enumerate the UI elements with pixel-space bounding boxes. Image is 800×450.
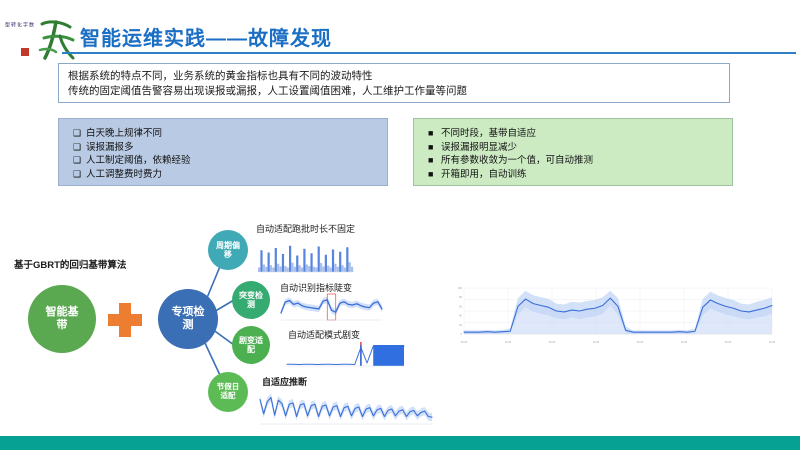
intro-line-2: 传统的固定阈值告警容易出现误报或漏报，人工设置阈值困难，人工维护工作量等问题 [68,84,720,99]
list-item: 人工调整费时费力 [73,168,377,182]
logo-brush-icon [36,18,76,62]
node-label: 专项检测 [171,306,205,331]
hollow-square-bullet-icon [73,127,86,141]
intro-textbox: 根据系统的特点不同，业务系统的黄金指标也具有不同的波动特性 传统的固定阈值告警容… [58,63,730,103]
svg-text:12:00: 12:00 [769,340,776,344]
node-intelligent-baseline[interactable]: 智能基带 [28,285,96,353]
list-item: 白天晚上规律不同 [73,127,377,141]
hollow-square-bullet-icon [73,154,86,168]
slide-root: 数 字 化 转 型 智能运维实践——故障发现 根据系统的特点不同，业务系统的黄金… [0,0,800,450]
node-spike-detection[interactable]: 突变检测 [232,281,270,319]
list-item: 误报漏报明显减少 [428,141,722,155]
list-item: 所有参数收敛为一个值，可自动推测 [428,154,722,168]
svg-text:12:00: 12:00 [593,340,600,344]
intro-line-1: 根据系统的特点不同，业务系统的黄金指标也具有不同的波动特性 [68,69,720,84]
benefit-item-1: 误报漏报明显减少 [441,141,517,155]
filled-square-bullet-icon [428,141,441,155]
caption-cycle-shift: 自动适配跑批时长不固定 [256,222,355,235]
benefit-list: 不同时段，基带自适应 误报漏报明显减少 所有参数收敛为一个值，可自动推测 开箱即… [428,127,722,181]
title-divider [62,52,796,54]
svg-text:00:00: 00:00 [725,340,732,344]
logo-seal-icon [21,48,29,56]
problem-list: 白天晚上规律不同 误报漏报多 人工制定阈值，依赖经验 人工调整费时费力 [73,127,377,181]
chart-holiday-adapt [252,388,434,430]
page-title: 智能运维实践——故障发现 [80,22,332,51]
benefit-box: 不同时段，基带自适应 误报漏报明显减少 所有参数收敛为一个值，可自动推测 开箱即… [413,118,733,186]
problem-item-0: 白天晚上规律不同 [86,127,162,141]
svg-text:00:00: 00:00 [637,340,644,344]
svg-text:20: 20 [459,323,462,327]
hollow-square-bullet-icon [73,168,86,182]
filled-square-bullet-icon [428,154,441,168]
svg-text:80: 80 [459,295,462,299]
problem-item-2: 人工制定阈值，依赖经验 [86,154,191,168]
svg-text:60: 60 [459,304,462,308]
chart-spike-detect [278,292,384,324]
svg-text:00:00: 00:00 [549,340,556,344]
node-label: 剧变适配 [239,336,263,354]
list-item: 误报漏报多 [73,141,377,155]
node-label: 智能基带 [42,306,82,331]
hollow-square-bullet-icon [73,141,86,155]
list-item: 开箱即用，自动训练 [428,168,722,182]
node-label: 突变检测 [239,291,263,309]
filled-square-bullet-icon [428,127,441,141]
svg-text:12:00: 12:00 [505,340,512,344]
problem-item-1: 误报漏报多 [86,141,134,155]
node-special-detection[interactable]: 专项检测 [158,289,218,349]
brand-logo: 数 字 化 转 型 [14,18,76,62]
svg-text:00:00: 00:00 [461,340,468,344]
caption-holiday-adaptation: 自适应推断 [262,375,307,388]
chart-baseline-main: 00:0012:0000:0012:0000:0012:0000:0012:00… [448,282,778,346]
node-holiday-adaptation[interactable]: 节假日适配 [208,372,248,412]
svg-text:40: 40 [459,314,462,318]
chart-cycle-shift [256,240,354,276]
svg-text:12:00: 12:00 [681,340,688,344]
benefit-item-2: 所有参数收敛为一个值，可自动推测 [441,154,593,168]
footer-bar [0,436,800,450]
benefit-item-0: 不同时段，基带自适应 [441,127,536,141]
algorithm-label: 基于GBRT的回归基带算法 [14,257,126,271]
node-label: 节假日适配 [215,383,241,400]
list-item: 不同时段，基带自适应 [428,127,722,141]
problem-box: 白天晚上规律不同 误报漏报多 人工制定阈值，依赖经验 人工调整费时费力 [58,118,388,186]
chart-regime-change [284,340,406,370]
plus-icon [108,303,142,337]
svg-text:0: 0 [461,332,463,336]
list-item: 人工制定阈值，依赖经验 [73,154,377,168]
benefit-item-3: 开箱即用，自动训练 [441,168,527,182]
node-cycle-shift[interactable]: 周期偏移 [208,230,248,270]
node-regime-adaptation[interactable]: 剧变适配 [232,326,270,364]
svg-text:100: 100 [458,286,463,290]
filled-square-bullet-icon [428,168,441,182]
problem-item-3: 人工调整费时费力 [86,168,162,182]
node-label: 周期偏移 [215,241,241,259]
